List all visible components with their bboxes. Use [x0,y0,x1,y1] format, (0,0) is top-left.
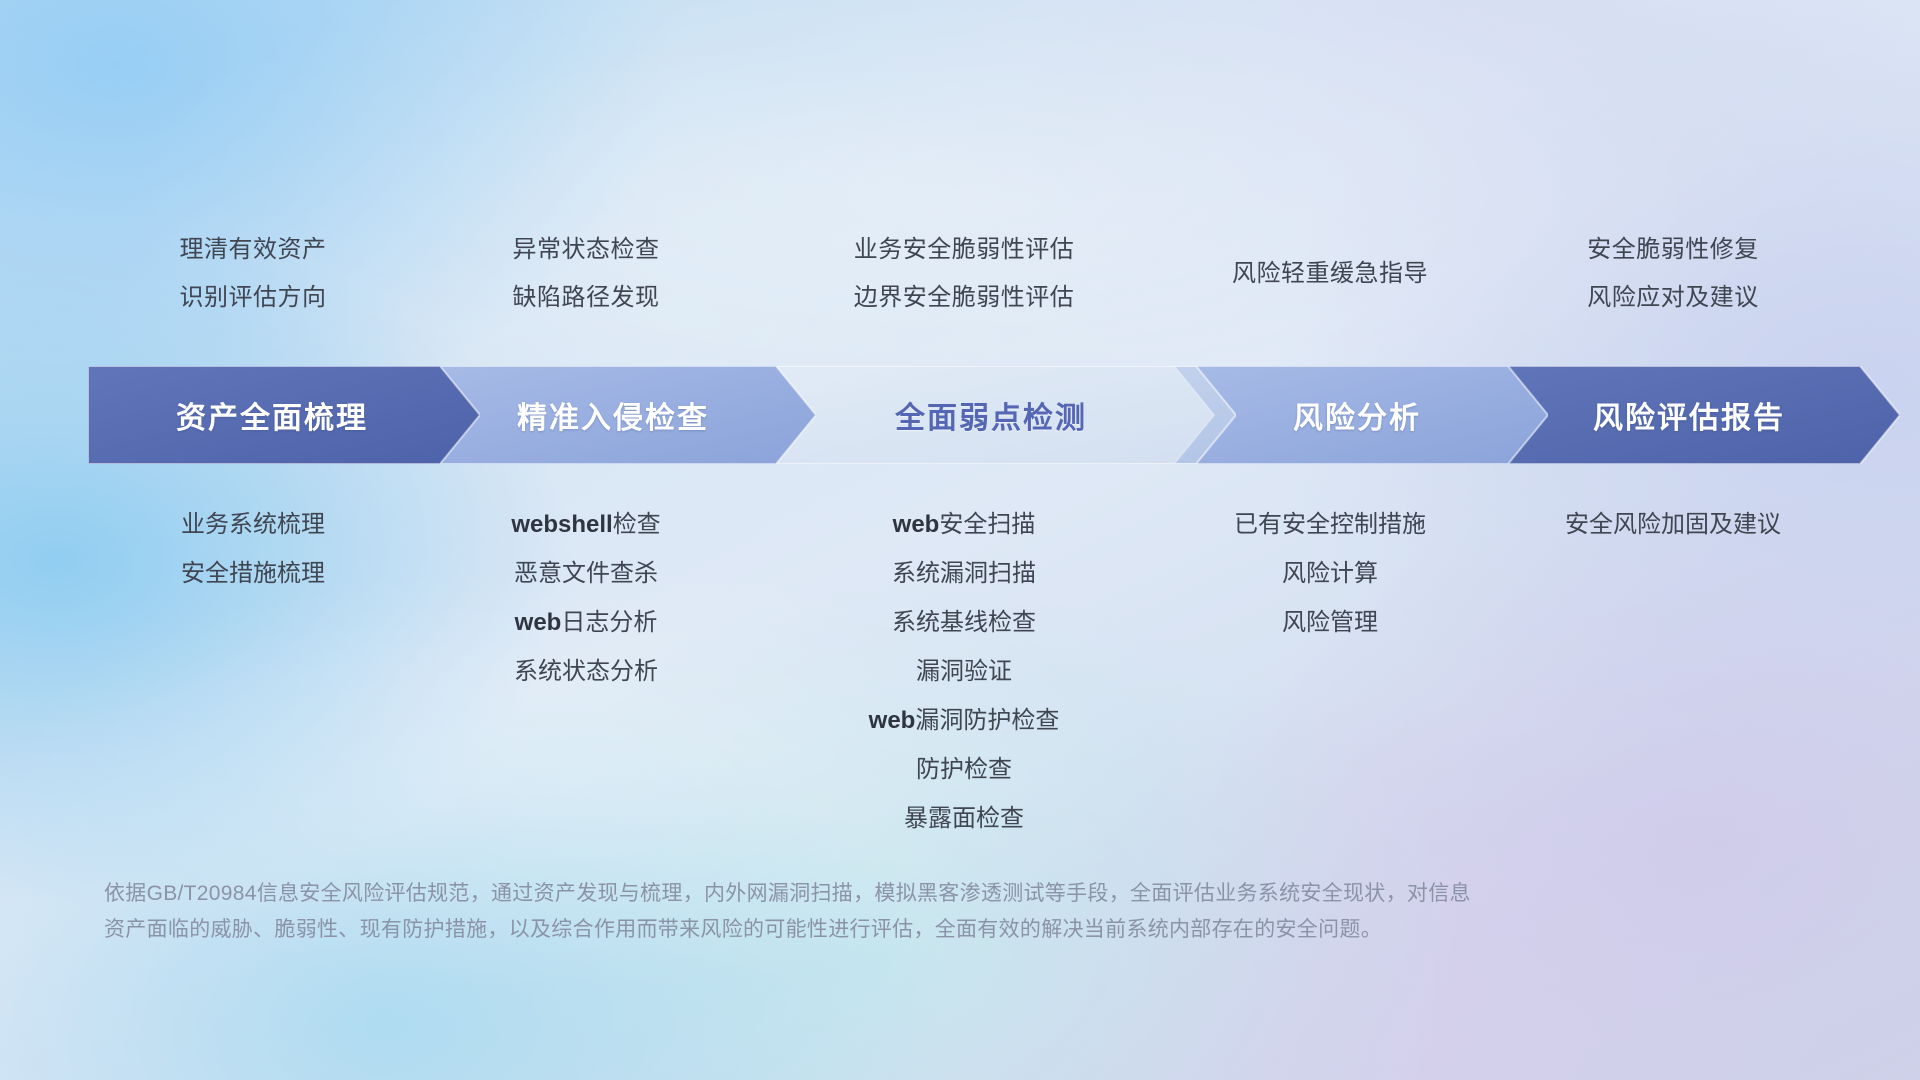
top-label-item: 理清有效资产 [88,226,418,274]
top-label-item: 业务安全脆弱性评估 [754,226,1174,274]
top-label-item: 安全脆弱性修复 [1486,226,1860,274]
chevron-weakness-detection[interactable]: 全面弱点检测 [754,366,1236,464]
bottom-label-item: 系统漏洞扫描 [754,549,1174,598]
bottom-label-item: 系统基线检查 [754,598,1174,647]
top-label-item: 缺陷路径发现 [418,274,754,322]
bottom-labels-risk-analysis: 已有安全控制措施风险计算风险管理 [1174,500,1486,647]
top-labels-intrusion-check: 异常状态检查缺陷路径发现 [418,226,754,322]
bottom-label-item: 业务系统梳理 [88,500,418,549]
bottom-label-item: 漏洞验证 [754,647,1174,696]
chevron-label-intrusion-check: 精准入侵检查 [517,393,709,437]
chevron-label-risk-report: 风险评估报告 [1593,393,1785,437]
bottom-label-item: webshell检查 [418,500,754,549]
bottom-label-item: web漏洞防护检查 [754,696,1174,745]
top-labels-risk-report: 安全脆弱性修复风险应对及建议 [1486,226,1860,322]
bottom-label-item: 安全风险加固及建议 [1486,500,1860,549]
process-diagram: 理清有效资产识别评估方向异常状态检查缺陷路径发现业务安全脆弱性评估边界安全脆弱性… [0,0,1920,1080]
chevron-label-asset-inventory: 资产全面梳理 [176,393,368,437]
top-label-item: 风险应对及建议 [1486,274,1860,322]
top-label-item: 边界安全脆弱性评估 [754,274,1174,322]
bottom-label-item: 安全措施梳理 [88,549,418,598]
bottom-label-item: 防护检查 [754,745,1174,794]
footer-note: 依据GB/T20984信息安全风险评估规范，通过资产发现与梳理，内外网漏洞扫描，… [104,876,1844,948]
bottom-labels-intrusion-check: webshell检查恶意文件查杀web日志分析系统状态分析 [418,500,754,696]
footer-line-2: 资产面临的威胁、脆弱性、现有防护措施，以及综合作用而带来风险的可能性进行评估，全… [104,912,1844,948]
bottom-label-item: 风险计算 [1174,549,1486,598]
top-label-item: 风险轻重缓急指导 [1174,250,1486,298]
footer-line-1: 依据GB/T20984信息安全风险评估规范，通过资产发现与梳理，内外网漏洞扫描，… [104,876,1844,912]
bottom-label-item: web安全扫描 [754,500,1174,549]
top-label-row: 理清有效资产识别评估方向异常状态检查缺陷路径发现业务安全脆弱性评估边界安全脆弱性… [0,226,1920,336]
bottom-label-item: 恶意文件查杀 [418,549,754,598]
chevron-risk-report[interactable]: 风险评估报告 [1486,366,1900,464]
bottom-labels-weakness-detection: web安全扫描系统漏洞扫描系统基线检查漏洞验证web漏洞防护检查防护检查暴露面检… [754,500,1174,843]
top-labels-risk-analysis: 风险轻重缓急指导 [1174,250,1486,298]
bottom-label-item: 系统状态分析 [418,647,754,696]
chevron-asset-inventory[interactable]: 资产全面梳理 [88,366,480,464]
top-label-item: 异常状态检查 [418,226,754,274]
top-labels-asset-inventory: 理清有效资产识别评估方向 [88,226,418,322]
bottom-labels-asset-inventory: 业务系统梳理安全措施梳理 [88,500,418,598]
bottom-label-item: 风险管理 [1174,598,1486,647]
bottom-label-item: 暴露面检查 [754,794,1174,843]
top-label-item: 识别评估方向 [88,274,418,322]
bottom-labels-risk-report: 安全风险加固及建议 [1486,500,1860,549]
chevron-band: 资产全面梳理精准入侵检查全面弱点检测风险分析风险评估报告 [88,366,1860,464]
chevron-label-weakness-detection: 全面弱点检测 [895,393,1087,437]
bottom-label-item: 已有安全控制措施 [1174,500,1486,549]
top-labels-weakness-detection: 业务安全脆弱性评估边界安全脆弱性评估 [754,226,1174,322]
bottom-label-item: web日志分析 [418,598,754,647]
chevron-label-risk-analysis: 风险分析 [1293,393,1421,437]
